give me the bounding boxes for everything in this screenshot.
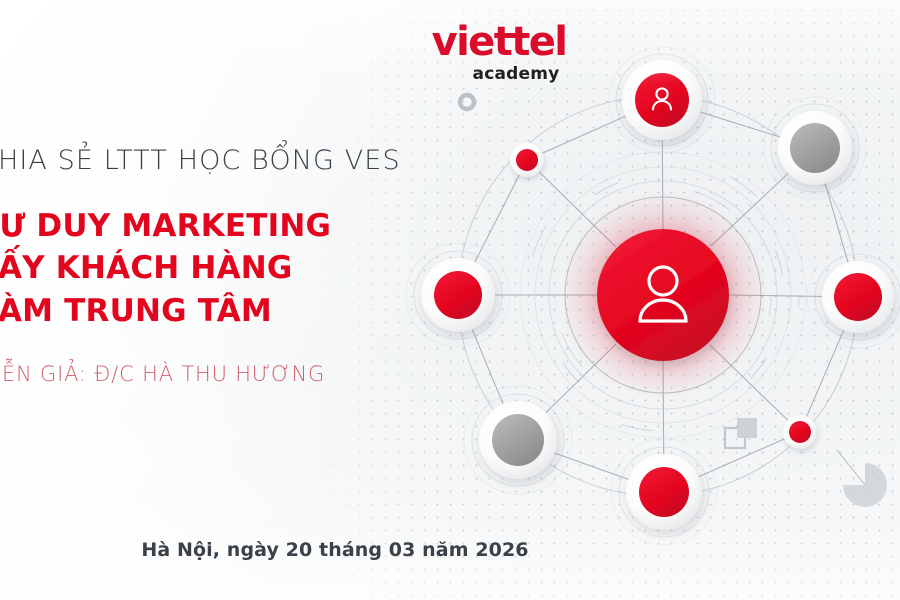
headline-line-3: LÀM TRUNG TÂM bbox=[0, 291, 418, 333]
slide-canvas: viettel academy CHIA SẺ LTTT HỌC BỔNG VE… bbox=[0, 0, 900, 600]
network-diagram-graphic bbox=[400, 20, 900, 540]
viettel-academy-logo: viettel academy bbox=[424, 22, 574, 83]
ring-outline-icon bbox=[460, 95, 474, 109]
node-small-lowright[interactable] bbox=[783, 415, 817, 449]
node-bottom[interactable] bbox=[611, 439, 717, 545]
pie-wedge-icon bbox=[837, 450, 887, 507]
headline-line-2: LẤY KHÁCH HÀNG bbox=[0, 248, 418, 290]
node-right[interactable] bbox=[807, 246, 900, 348]
event-kicker: CHIA SẺ LTTT HỌC BỔNG VES bbox=[0, 146, 418, 176]
node-left[interactable] bbox=[406, 243, 510, 347]
overlapping-squares-icon bbox=[725, 418, 757, 448]
headline: TƯ DUY MARKETING LẤY KHÁCH HÀNG LÀM TRUN… bbox=[0, 206, 418, 333]
logo-sub-wordmark: academy bbox=[458, 66, 574, 83]
node-right-upper[interactable] bbox=[764, 97, 866, 199]
node-small-upleft[interactable] bbox=[510, 143, 544, 177]
logo-wordmark: viettel bbox=[424, 22, 574, 62]
node-left-lower[interactable] bbox=[464, 386, 572, 494]
date-line: Hà Nội, ngày 20 tháng 03 năm 2026 bbox=[0, 539, 900, 561]
headline-line-1: TƯ DUY MARKETING bbox=[0, 206, 418, 248]
center-node[interactable] bbox=[559, 191, 767, 399]
title-block: CHIA SẺ LTTT HỌC BỔNG VES TƯ DUY MARKETI… bbox=[0, 146, 418, 386]
node-top[interactable] bbox=[609, 47, 715, 153]
speaker-line: DIỄN GIẢ: Đ/C HÀ THU HƯƠNG bbox=[0, 362, 418, 386]
